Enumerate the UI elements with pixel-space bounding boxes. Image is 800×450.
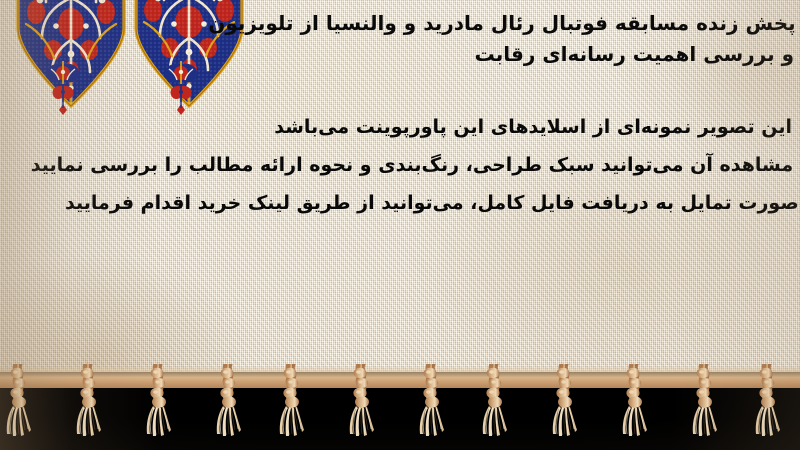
carpet-fringe-tassel-icon xyxy=(616,364,650,442)
carpet-fringe-tassel-icon xyxy=(684,364,718,442)
carpet-fringe-tassel-icon xyxy=(140,364,174,442)
body-line-3: در صورت تمایل به دریافت فایل کامل، می‌تو… xyxy=(72,184,800,222)
carpet-fringe-tassel-icon xyxy=(752,364,786,442)
body-line-2: با مشاهده آن می‌توانید سبک طراحی، رنگ‌بن… xyxy=(72,146,800,184)
carpet-fringe-tassel-icon xyxy=(548,364,582,442)
carpet-fringe-tassel-icon xyxy=(72,364,106,442)
carpet-fringe-tassel-icon xyxy=(480,364,514,442)
carpet-fringe-tassel-icon xyxy=(344,364,378,442)
carpet-fringe-row xyxy=(0,360,800,450)
slide-body: این تصویر نمونه‌ای از اسلایدهای این پاور… xyxy=(72,108,792,222)
title-line-2: و بررسی اهمیت رسانه‌ای رقابت xyxy=(94,39,794,70)
carpet-fringe-tassel-icon xyxy=(412,364,446,442)
title-line-1: یل پخش زنده مسابقه فوتبال رئال مادرید و … xyxy=(94,8,800,39)
slide-title: یل پخش زنده مسابقه فوتبال رئال مادرید و … xyxy=(94,8,794,70)
slide-canvas: یل پخش زنده مسابقه فوتبال رئال مادرید و … xyxy=(0,0,800,450)
body-line-1: این تصویر نمونه‌ای از اسلایدهای این پاور… xyxy=(72,108,792,146)
carpet-fringe-tassel-icon xyxy=(4,364,38,442)
carpet-fringe-tassel-icon xyxy=(208,364,242,442)
carpet-fringe-tassel-icon xyxy=(276,364,310,442)
